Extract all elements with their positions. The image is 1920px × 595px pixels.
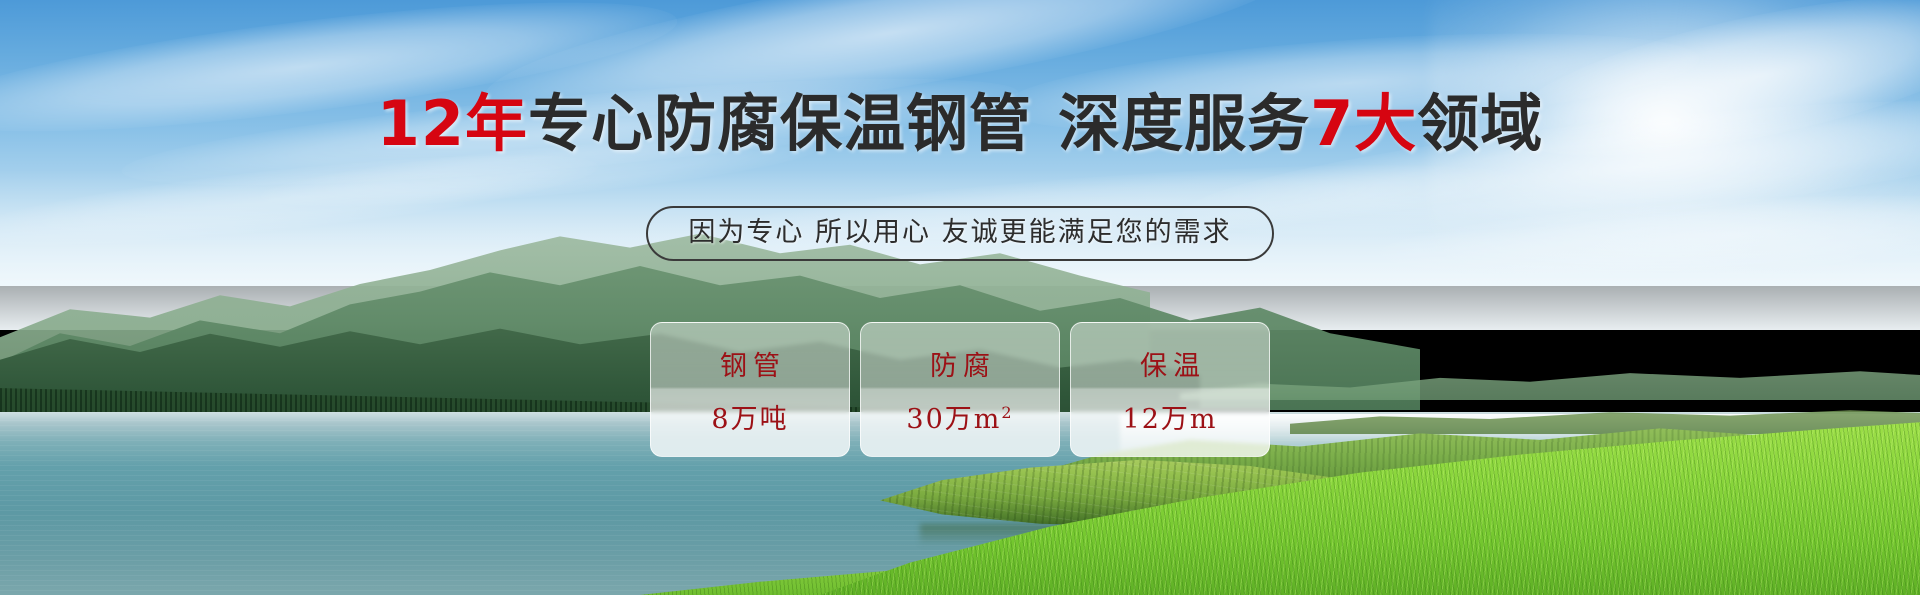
stat-card: 钢管8万吨 xyxy=(650,322,850,457)
headline-segment-4: 深度服务 xyxy=(1058,87,1310,160)
stat-card-label: 钢管 xyxy=(714,344,786,383)
stat-card-value-text: 30万m xyxy=(906,404,1001,435)
banner-content: 12年专心防腐保温钢管深度服务7大领域 因为专心 所以用心 友诚更能满足您的需求… xyxy=(0,0,1920,595)
stat-card-list: 钢管8万吨防腐30万m2保温12万m xyxy=(0,322,1920,457)
headline: 12年专心防腐保温钢管深度服务7大领域 xyxy=(0,93,1920,155)
stat-card-value-text: 12万m xyxy=(1123,404,1218,435)
subtitle-pill: 因为专心 所以用心 友诚更能满足您的需求 xyxy=(646,206,1273,261)
stat-card-value: 12万m xyxy=(1123,397,1218,436)
subtitle-container: 因为专心 所以用心 友诚更能满足您的需求 xyxy=(0,206,1920,261)
hero-banner: 12年专心防腐保温钢管深度服务7大领域 因为专心 所以用心 友诚更能满足您的需求… xyxy=(0,0,1920,595)
headline-segment-1: 12年 xyxy=(377,87,528,160)
stat-card: 保温12万m xyxy=(1070,322,1270,457)
headline-segment-2: 专心防腐保温钢管 xyxy=(528,87,1032,160)
headline-segment-6: 领域 xyxy=(1417,87,1543,160)
stat-card-label: 保温 xyxy=(1134,344,1206,383)
headline-segment-5: 7大 xyxy=(1310,87,1417,160)
stat-card-value: 30万m2 xyxy=(906,397,1013,436)
stat-card-value: 8万吨 xyxy=(711,397,788,436)
stat-card-value-text: 8万吨 xyxy=(711,404,788,435)
stat-card-label: 防腐 xyxy=(924,344,996,383)
stat-card-value-superscript: 2 xyxy=(1001,403,1013,422)
stat-card: 防腐30万m2 xyxy=(860,322,1060,457)
